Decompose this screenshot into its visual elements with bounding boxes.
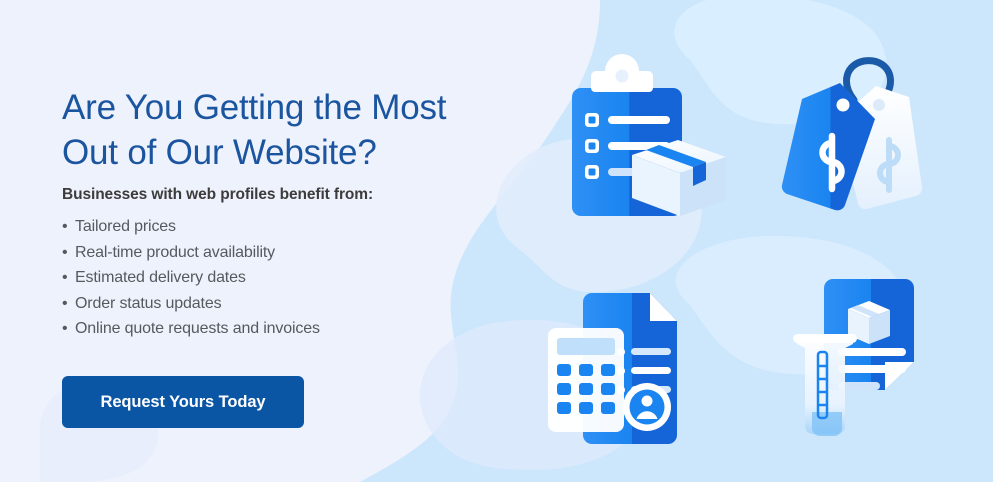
benefits-list: •Tailored prices •Real-time product avai… xyxy=(62,214,320,342)
benefit-label: Tailored prices xyxy=(75,218,176,235)
list-item: •Order status updates xyxy=(62,291,320,317)
page-title: Are You Getting the Most Out of Our Webs… xyxy=(62,85,532,175)
bullet-icon: • xyxy=(62,316,75,342)
benefit-label: Order status updates xyxy=(75,295,221,312)
list-item: •Tailored prices xyxy=(62,214,320,240)
benefit-label: Online quote requests and invoices xyxy=(75,320,320,337)
list-item: •Online quote requests and invoices xyxy=(62,316,320,342)
headline-line-1: Are You Getting the Most xyxy=(62,88,446,127)
bullet-icon: • xyxy=(62,214,75,240)
bullet-icon: • xyxy=(62,265,75,291)
request-yours-today-button[interactable]: Request Yours Today xyxy=(62,376,304,428)
headline-line-2: Out of Our Website? xyxy=(62,130,532,175)
bullet-icon: • xyxy=(62,291,75,317)
list-item: •Estimated delivery dates xyxy=(62,265,320,291)
benefit-label: Real-time product availability xyxy=(75,244,275,261)
bullet-icon: • xyxy=(62,240,75,266)
benefit-label: Estimated delivery dates xyxy=(75,269,246,286)
promo-banner: Are You Getting the Most Out of Our Webs… xyxy=(0,0,993,482)
banner-copy: Are You Getting the Most Out of Our Webs… xyxy=(0,0,520,482)
subheading: Businesses with web profiles benefit fro… xyxy=(62,186,373,204)
list-item: •Real-time product availability xyxy=(62,240,320,266)
